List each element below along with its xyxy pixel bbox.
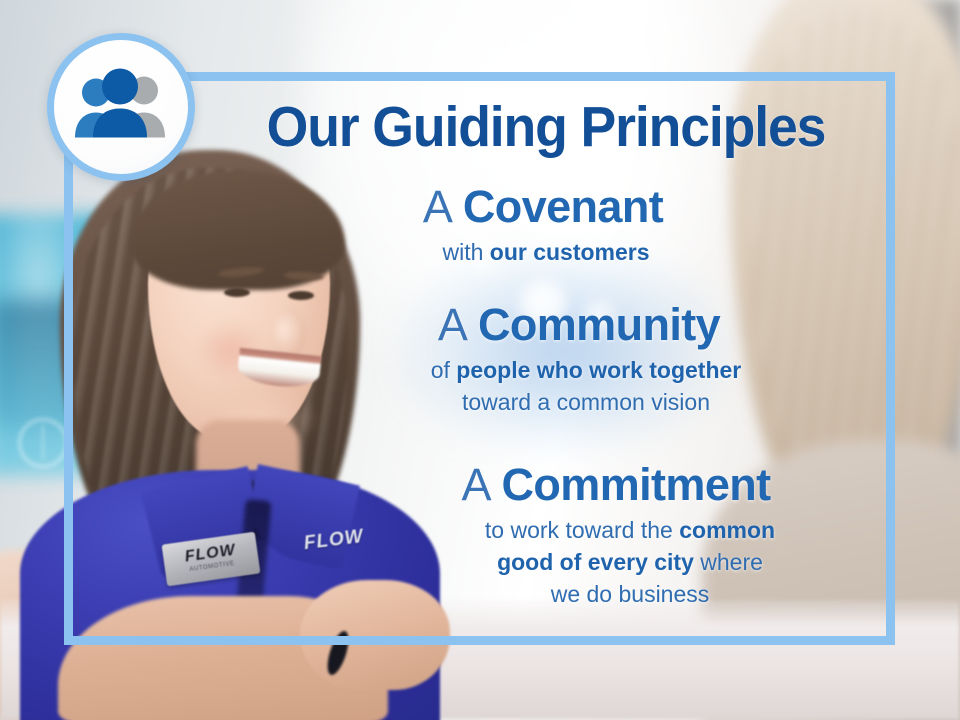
principle-keyword: Commitment (502, 459, 771, 510)
people-group-badge (47, 33, 195, 181)
people-group-icon (69, 68, 173, 147)
principle-title: A Commitment (200, 456, 880, 514)
page-title: Our Guiding Principles (236, 96, 856, 158)
principle-title: A Community (200, 296, 880, 354)
principle-description: with our customers (200, 236, 880, 268)
guiding-principles-graphic: FLOW AUTOMOTIVE FLOW (0, 0, 960, 720)
principle-article: A (438, 299, 466, 350)
principle-community: A Community of people who work togethert… (200, 296, 880, 418)
principle-description: to work toward the commongood of every c… (200, 514, 880, 610)
principle-title: A Covenant (200, 178, 880, 236)
principle-article: A (423, 181, 451, 232)
principle-commitment: A Commitment to work toward the commongo… (200, 456, 880, 610)
principle-keyword: Covenant (463, 181, 663, 232)
principle-keyword: Community (478, 299, 720, 350)
principle-article: A (461, 459, 489, 510)
principle-description: of people who work togethertoward a comm… (200, 354, 880, 418)
principle-covenant: A Covenant with our customers (200, 178, 880, 268)
